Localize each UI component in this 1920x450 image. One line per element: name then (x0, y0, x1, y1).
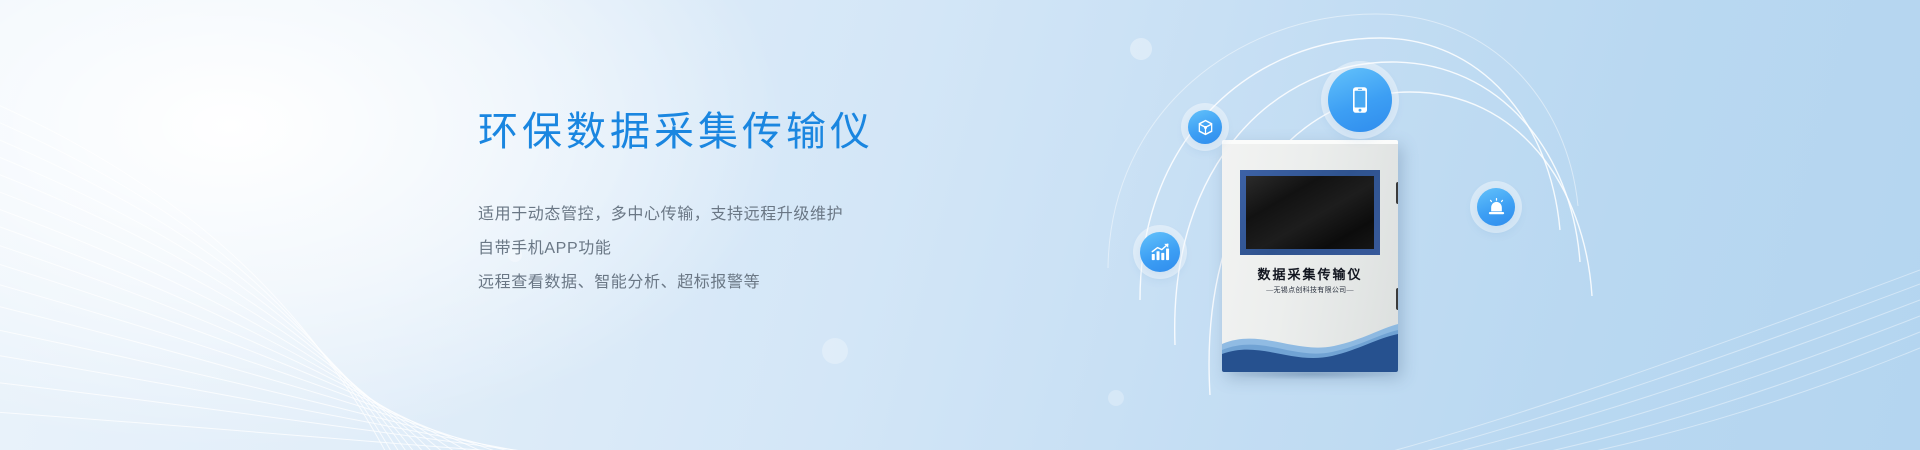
device-lcd-screen (1246, 176, 1374, 249)
box-icon[interactable] (1188, 110, 1222, 144)
box-icon-glyph (1196, 118, 1215, 137)
bokeh-circle-4 (1108, 390, 1124, 406)
subtitle-line-3: 远程查看数据、智能分析、超标报警等 (478, 266, 874, 300)
product-banner: 环保数据采集传输仪 适用于动态管控，多中心传输，支持远程升级维护 自带手机APP… (0, 0, 1920, 450)
bar-chart-icon[interactable] (1140, 232, 1180, 272)
alarm-icon[interactable] (1477, 188, 1515, 226)
subtitle-line-2: 自带手机APP功能 (478, 232, 874, 266)
device-company-label: —无锡点创科技有限公司— (1222, 285, 1398, 295)
banner-text-block: 环保数据采集传输仪 适用于动态管控，多中心传输，支持远程升级维护 自带手机APP… (478, 110, 874, 300)
bokeh-circle-2 (822, 338, 848, 364)
smartphone-icon-glyph (1345, 85, 1375, 115)
alarm-icon-glyph (1486, 197, 1507, 218)
subtitle-line-1: 适用于动态管控，多中心传输，支持远程升级维护 (478, 198, 874, 232)
device-screen-bezel (1240, 170, 1380, 255)
bokeh-circle-1 (1130, 38, 1152, 60)
device-top-edge (1222, 140, 1398, 144)
device-title-label: 数据采集传输仪 (1222, 264, 1398, 283)
device-side-button-top (1396, 182, 1398, 204)
smartphone-icon[interactable] (1328, 68, 1392, 132)
device-footer-wave (1222, 324, 1398, 372)
device-image: 数据采集传输仪 —无锡点创科技有限公司— (1222, 140, 1398, 372)
device-side-button-bottom (1396, 288, 1398, 310)
wave-lines-right-decoration (1360, 210, 1920, 450)
bar-chart-icon-glyph (1149, 241, 1171, 263)
page-title: 环保数据采集传输仪 (478, 110, 874, 154)
